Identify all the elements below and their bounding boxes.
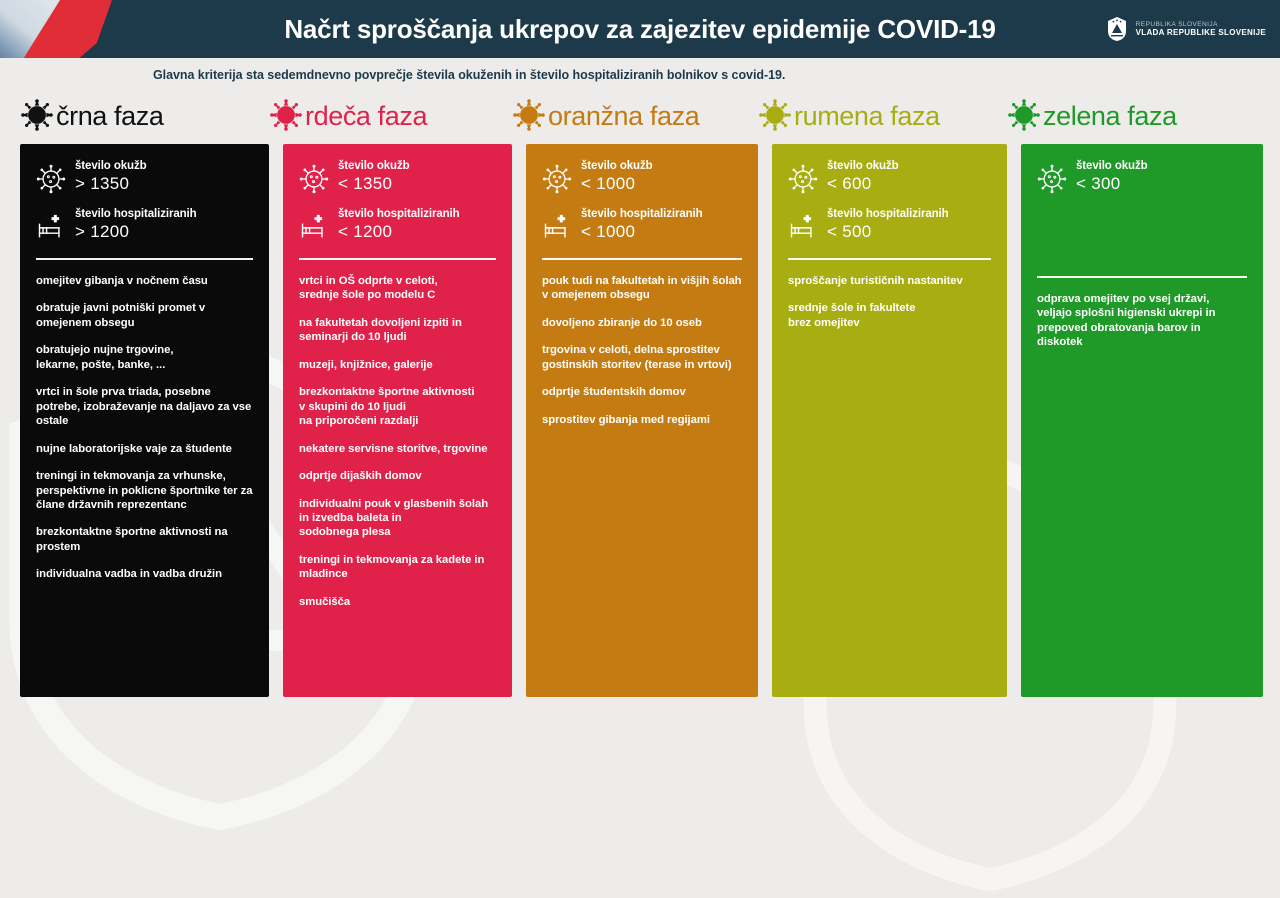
phase-column-rdeča: število okužb< 1350število hospitalizira… (283, 144, 512, 697)
section-divider (36, 258, 253, 260)
measures-list: pouk tudi na fakultetah in višjih šolah … (542, 274, 742, 427)
stat-spacer (1037, 196, 1247, 260)
measure-item: obratujejo nujne trgovine,lekarne, pošte… (36, 343, 253, 372)
stat-text: število okužb> 1350 (75, 160, 147, 193)
measure-item: na fakultetah dovoljeni izpiti in semina… (299, 316, 496, 345)
logo-line-government: Vlada Republike Slovenije (1136, 28, 1266, 37)
stat-value: < 1000 (581, 223, 703, 242)
phase-column-rumena: število okužb< 600število hospitaliziran… (772, 144, 1007, 697)
phase-heading-rdeča: rdeča faza (269, 98, 512, 134)
measure-item: odprava omejitev po vsej državi, veljajo… (1037, 292, 1247, 350)
hospital-bed-icon (542, 212, 572, 242)
coat-of-arms-icon (1106, 16, 1128, 42)
measure-item: dovoljeno zbiranje do 10 oseb (542, 316, 742, 330)
government-logo: Republika Slovenija Vlada Republike Slov… (1106, 16, 1266, 42)
virus-icon (758, 98, 792, 132)
stat-label: število okužb (581, 160, 653, 173)
phase-columns: število okužb> 1350število hospitalizira… (0, 144, 1280, 697)
measure-item: vrtci in šole prva triada, posebne potre… (36, 385, 253, 428)
phase-column-črna: število okužb> 1350število hospitalizira… (20, 144, 269, 697)
phase-heading-label: rdeča faza (305, 103, 427, 130)
virus-outline-icon (542, 164, 572, 194)
phase-heading-label: črna faza (56, 103, 163, 130)
phase-heading-zelena: zelena faza (1007, 98, 1249, 134)
stat-value: < 1350 (338, 175, 410, 194)
page-header: Načrt sproščanja ukrepov za zajezitev ep… (0, 0, 1280, 58)
stat-label: število hospitaliziranih (581, 208, 703, 221)
virus-icon (1007, 98, 1041, 132)
stat-value: < 1000 (581, 175, 653, 194)
section-divider (299, 258, 496, 260)
measures-list: sproščanje turističnih nastanitevsrednje… (788, 274, 991, 330)
stat-label: število okužb (338, 160, 410, 173)
phase-heading-črna: črna faza (20, 98, 269, 134)
stat-value: > 1200 (75, 223, 197, 242)
measure-item: individualna vadba in vadba družin (36, 567, 253, 581)
measure-item: odprtje študentskih domov (542, 385, 742, 399)
phase-column-zelena: število okužb< 300odprava omejitev po vs… (1021, 144, 1263, 697)
stat-label: število okužb (75, 160, 147, 173)
virus-outline-icon (1037, 164, 1067, 194)
measures-list: omejitev gibanja v nočnem časuobratuje j… (36, 274, 253, 582)
virus-icon (269, 98, 303, 132)
measure-item: vrtci in OŠ odprte v celoti,srednje šole… (299, 274, 496, 303)
measure-item: nekatere servisne storitve, trgovine (299, 442, 496, 456)
stat-item: število hospitaliziranih< 1200 (299, 208, 496, 242)
logo-line-country: Republika Slovenija (1136, 21, 1266, 28)
phase-heading-label: rumena faza (794, 103, 940, 130)
measures-list: vrtci in OŠ odprte v celoti,srednje šole… (299, 274, 496, 609)
virus-outline-icon (299, 164, 329, 194)
stat-text: število okužb< 300 (1076, 160, 1148, 193)
stat-text: število hospitaliziranih< 1200 (338, 208, 460, 241)
hospital-bed-icon (36, 212, 66, 242)
stat-item: število okužb< 300 (1037, 160, 1247, 194)
measure-item: nujne laboratorijske vaje za študente (36, 442, 253, 456)
stat-label: število hospitaliziranih (75, 208, 197, 221)
measure-item: trgovina v celoti, delna sprostitev gost… (542, 343, 742, 372)
stat-text: število okužb< 1350 (338, 160, 410, 193)
stat-text: število hospitaliziranih< 1000 (581, 208, 703, 241)
virus-icon (20, 98, 54, 132)
stat-value: < 500 (827, 223, 949, 242)
stat-text: število okužb< 600 (827, 160, 899, 193)
stat-value: > 1350 (75, 175, 147, 194)
virus-icon (512, 98, 546, 132)
hospital-bed-icon (788, 212, 818, 242)
phase-headings-row: črna fazardeča fazaoranžna fazarumena fa… (0, 92, 1280, 140)
virus-outline-icon (36, 164, 66, 194)
measure-item: srednje šole in fakultetebrez omejitev (788, 301, 991, 330)
measure-item: sproščanje turističnih nastanitev (788, 274, 991, 288)
page-title: Načrt sproščanja ukrepov za zajezitev ep… (284, 14, 995, 45)
section-divider (788, 258, 991, 260)
phase-stats: število okužb< 1000število hospitalizira… (542, 160, 742, 242)
stat-item: število okužb< 600 (788, 160, 991, 194)
stat-label: število hospitaliziranih (338, 208, 460, 221)
phase-stats: število okužb> 1350število hospitalizira… (36, 160, 253, 242)
measure-item: pouk tudi na fakultetah in višjih šolah … (542, 274, 742, 303)
measure-item: omejitev gibanja v nočnem času (36, 274, 253, 288)
stat-label: število hospitaliziranih (827, 208, 949, 221)
measure-item: individualni pouk v glasbenih šolah in i… (299, 497, 496, 540)
measure-item: treningi in tekmovanja za vrhunske, pers… (36, 469, 253, 512)
decorative-corner-stripes (0, 0, 190, 58)
subtitle-bar: Glavna kriterija sta sedemdnevno povpreč… (0, 58, 1280, 92)
stat-item: število okužb< 1000 (542, 160, 742, 194)
phase-column-oranžna: število okužb< 1000število hospitalizira… (526, 144, 758, 697)
measures-list: odprava omejitev po vsej državi, veljajo… (1037, 292, 1247, 350)
stat-item: število hospitaliziranih> 1200 (36, 208, 253, 242)
stat-value: < 600 (827, 175, 899, 194)
phase-heading-rumena: rumena faza (758, 98, 1007, 134)
stat-label: število okužb (827, 160, 899, 173)
measure-item: obratuje javni potniški promet v omejene… (36, 301, 253, 330)
measure-item: brezkontaktne športne aktivnostiv skupin… (299, 385, 496, 428)
section-divider (542, 258, 742, 260)
measure-item: odprtje dijaških domov (299, 469, 496, 483)
phase-stats: število okužb< 300 (1037, 160, 1247, 194)
measure-item: sprostitev gibanja med regijami (542, 413, 742, 427)
section-divider (1037, 276, 1247, 278)
hospital-bed-icon (299, 212, 329, 242)
phase-stats: število okužb< 600število hospitaliziran… (788, 160, 991, 242)
stat-item: število okužb> 1350 (36, 160, 253, 194)
measure-item: smučišča (299, 595, 496, 609)
phase-stats: število okužb< 1350število hospitalizira… (299, 160, 496, 242)
measure-item: muzeji, knjižnice, galerije (299, 358, 496, 372)
virus-outline-icon (788, 164, 818, 194)
phase-heading-label: oranžna faza (548, 103, 699, 130)
measure-item: brezkontaktne športne aktivnosti na pros… (36, 525, 253, 554)
stat-value: < 300 (1076, 175, 1148, 194)
subtitle-text: Glavna kriterija sta sedemdnevno povpreč… (153, 68, 785, 82)
stat-text: število hospitaliziranih< 500 (827, 208, 949, 241)
measure-item: treningi in tekmovanja za kadete in mlad… (299, 553, 496, 582)
phase-heading-label: zelena faza (1043, 103, 1177, 130)
stat-label: število okužb (1076, 160, 1148, 173)
stat-text: število hospitaliziranih> 1200 (75, 208, 197, 241)
phase-heading-oranžna: oranžna faza (512, 98, 758, 134)
stat-text: število okužb< 1000 (581, 160, 653, 193)
stat-item: število hospitaliziranih< 1000 (542, 208, 742, 242)
stat-item: število hospitaliziranih< 500 (788, 208, 991, 242)
stat-item: število okužb< 1350 (299, 160, 496, 194)
stat-value: < 1200 (338, 223, 460, 242)
